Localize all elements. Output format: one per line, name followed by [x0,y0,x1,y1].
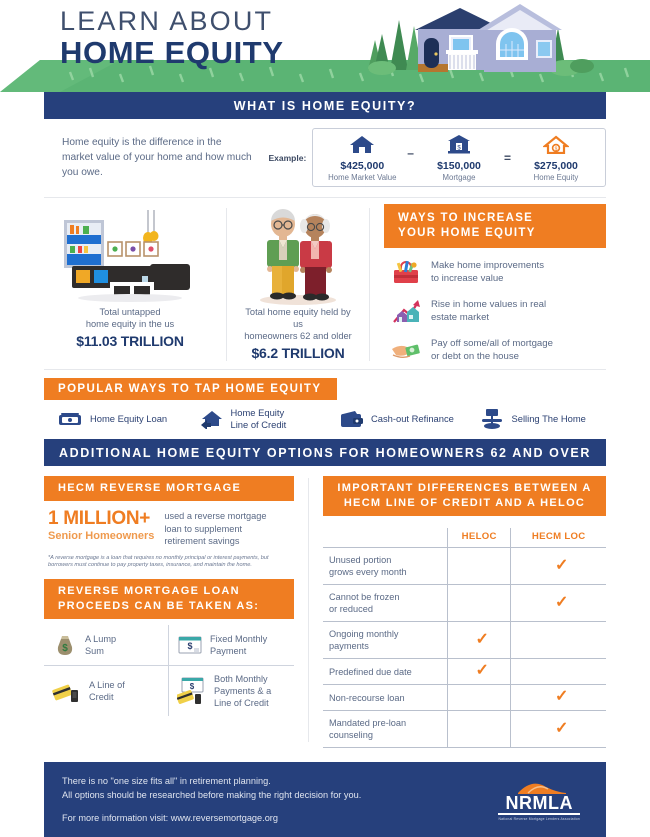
svg-text:$: $ [555,146,558,152]
toolbox-icon [390,257,422,287]
hecm-million-label: Senior Homeowners [48,529,154,543]
check-icon: ✓ [555,557,568,574]
hecm-column: HECM REVERSE MORTGAGE 1 MILLION+ Senior … [44,476,294,748]
example-value: $275,000 [517,160,595,172]
divider [369,208,370,361]
example-item-mortgage: $ $150,000 Mortgage [420,134,498,182]
svg-text:$: $ [190,682,195,691]
table-header-row: HELOC HECM LOC [323,528,606,548]
senior-man [267,209,299,300]
operator-equals: = [502,151,513,165]
bank-icon: $ [447,134,471,154]
example-box: $425,000 Home Market Value – $ $150,000 [312,128,606,187]
table-row: Ongoing monthly payments ✓ [323,622,606,659]
hecm-desc-line3: retirement savings [164,535,266,548]
cell-heloc [448,685,511,711]
row-label: Ongoing monthly payments [323,622,448,659]
title-line-1: LEARN ABOUT [60,6,284,36]
proceeds-heading: REVERSE MORTGAGE LOAN PROCEEDS CAN BE TA… [44,579,294,619]
home-equity-icon: $ [543,134,569,154]
title-line-2: HOME EQUITY [60,36,284,70]
col-header-hecm-loc: HECM LOC [511,528,606,548]
row-label: Unused portion grows every month [323,548,448,585]
footer-text: There is no "one size fits all" in retir… [62,774,498,825]
proceeds-heading-line1: REVERSE MORTGAGE LOAN [58,584,294,599]
svg-text:$: $ [187,641,192,651]
cell-heloc [448,585,511,622]
cell-heloc: ✓ [448,622,511,659]
footer-line1: There is no "one size fits all" in retir… [62,774,498,788]
col-header-blank [323,528,448,548]
house-illustration [360,0,650,92]
page-title: LEARN ABOUT HOME EQUITY [60,6,284,70]
row-label-line1: Cannot be frozen [329,591,447,603]
cell-hecm [511,622,606,659]
operator-minus: – [405,146,416,160]
example-caption: Mortgage [420,173,498,182]
row-label-line2: or reduced [329,603,447,615]
proceeds-option-text: A Lump Sum [85,633,116,657]
pop-line1: Cash-out Refinance [371,413,454,425]
hecm-desc-line1: used a reverse mortgage [164,510,266,523]
example-item-home-equity: $ $275,000 Home Equity [517,134,595,182]
money-bag-icon: $ [52,632,78,658]
opt-line1: Both Monthly [214,673,271,685]
comparison-table: HELOC HECM LOC Unused portion grows ever… [323,528,606,748]
stat-senior-equity: Total home equity held by us homeowners … [237,204,359,369]
cell-heloc [448,548,511,585]
example-block: Example: $425,000 Home Market Value – [269,128,607,187]
hecm-desc-line2: loan to supplement [164,523,266,536]
nrmla-tagline: National Reverse Mortgage Lenders Associ… [498,817,580,821]
cell-hecm: ✓ [511,585,606,622]
stat-caption-line2: homeowners 62 and older [243,330,353,342]
stat-value: $11.03 TRILLION [50,333,210,349]
stat-caption-line1: Total home equity held by us [243,306,353,330]
check-icon: ✓ [555,720,568,737]
opt-line2: Sum [85,645,116,657]
for-sale-sign-icon [480,408,504,430]
comparison-heading-line1: IMPORTANT DIFFERENCES BETWEEN A [323,481,606,496]
way-item-text: Make home improvements to increase value [431,259,544,285]
way-line2: or debt on the house [431,350,553,363]
svg-text:$: $ [62,643,68,654]
table-row: Unused portion grows every month ✓ [323,548,606,585]
cell-heloc [448,711,511,748]
opt-line2: Credit [89,691,125,703]
cell-hecm: ✓ [511,548,606,585]
row-label: Mandated pre-loan counseling [323,711,448,748]
example-value: $425,000 [323,160,401,172]
example-value: $150,000 [420,160,498,172]
row-label-line2: grows every month [329,566,447,578]
pop-line1: Selling The Home [512,413,586,425]
popular-way-cash-out-refinance: Cash-out Refinance [325,409,466,429]
table-row: Mandated pre-loan counseling ✓ [323,711,606,748]
table-row: Cannot be frozen or reduced ✓ [323,585,606,622]
popular-ways-heading: POPULAR WAYS TO TAP HOME EQUITY [44,378,337,400]
way-line2: estate market [431,311,546,324]
col-header-heloc: HELOC [448,528,511,548]
check-icon: ✓ [555,594,568,611]
comparison-heading: IMPORTANT DIFFERENCES BETWEEN A HECM LIN… [323,476,606,516]
ways-to-increase-panel: WAYS TO INCREASE YOUR HOME EQUITY M [380,204,606,369]
hecm-disclaimer: *A reverse mortgage is a loan that requi… [44,555,294,570]
footer-line2: All options should be researched before … [62,788,498,802]
row-label-line1: Predefined due date [329,666,447,678]
row-label: Cannot be frozen or reduced [323,585,448,622]
proceeds-panel: REVERSE MORTGAGE LOAN PROCEEDS CAN BE TA… [44,579,294,716]
check-icon: ✓ [476,662,489,679]
pop-line1: Home Equity [231,407,287,419]
cell-hecm: ✓ [511,711,606,748]
hecm-million-value: 1 MILLION+ [48,509,154,529]
example-label: Example: [269,153,307,163]
proceeds-option-text: Fixed Monthly Payment [210,633,267,657]
way-line1: Make home improvements [431,259,544,272]
way-item-text: Rise in home values in real estate marke… [431,298,546,324]
opt-line1: Fixed Monthly [210,633,267,645]
row-label: Non-recourse loan [323,685,448,711]
table-row: Non-recourse loan ✓ [323,685,606,711]
opt-line2: Payment [210,645,267,657]
what-is-description: Home equity is the difference in the mar… [44,135,255,180]
popular-way-text: Home Equity Line of Credit [231,407,287,431]
way-item-improvements: Make home improvements to increase value [384,257,606,287]
what-is-banner: WHAT IS HOME EQUITY? [44,92,606,119]
popular-way-selling-the-home: Selling The Home [466,408,607,430]
hecm-description: used a reverse mortgage loan to suppleme… [164,509,266,548]
cell-heloc: ✓ [448,659,511,685]
comparison-heading-line2: HECM LINE OF CREDIT AND A HELOC [323,496,606,511]
comparison-column: IMPORTANT DIFFERENCES BETWEEN A HECM LIN… [323,476,606,748]
senior-couple-illustration [243,208,353,306]
row-label: Predefined due date [323,659,448,685]
popular-ways-list: Home Equity Loan Home Equity Line of Cre… [44,400,606,439]
home-icon [349,134,375,154]
row-label-line1: Unused portion [329,554,447,566]
what-is-content: Home equity is the difference in the mar… [44,119,606,197]
stats-and-ways: Total untapped home equity in the us $11… [44,198,606,369]
divider [308,478,309,742]
row-label-line1: Mandated pre-loan [329,717,447,729]
nrmla-logo: NRMLA National Reverse Mortgage Lenders … [498,778,588,821]
stat-caption-line1: Total untapped [50,306,210,318]
popular-ways-section: POPULAR WAYS TO TAP HOME EQUITY Home Equ… [44,370,606,439]
nrmla-arc-icon [498,778,572,794]
proceeds-grid: $ A Lump Sum $ [44,625,294,716]
hand-money-icon [390,335,422,365]
proceeds-heading-line2: PROCEEDS CAN BE TAKEN AS: [58,599,294,614]
proceeds-option-fixed-monthly: $ Fixed Monthly Payment [169,625,294,666]
infographic-page: LEARN ABOUT HOME EQUITY [0,0,650,691]
example-caption: Home Equity [517,173,595,182]
wallet-icon [339,409,363,429]
row-label-line2: counseling [329,729,447,741]
stats-group: Total untapped home equity in the us $11… [44,204,359,369]
hecm-stat-figure: 1 MILLION+ Senior Homeowners [48,509,154,548]
way-item-text: Pay off some/all of mortgage or debt on … [431,337,553,363]
cell-hecm: ✓ [511,685,606,711]
footer-url[interactable]: For more information visit: www.reversem… [62,811,498,825]
row-label-line2: payments [329,640,447,652]
proceeds-option-lump-sum: $ A Lump Sum [44,625,169,666]
row-label-line1: Ongoing monthly [329,628,447,640]
footer-bar: There is no "one size fits all" in retir… [44,762,606,837]
opt-line1: A Line of [89,679,125,691]
way-line1: Pay off some/all of mortgage [431,337,553,350]
stat-caption-line2: home equity in the us [50,318,210,330]
cash-icon [58,410,82,428]
popular-way-text: Home Equity Loan [90,413,167,425]
hecm-heading: HECM REVERSE MORTGAGE [44,476,294,501]
senior-woman [300,214,332,301]
nrmla-wordmark: NRMLA [498,794,580,815]
way-line2: to increase value [431,272,544,285]
check-icon: ✓ [476,631,489,648]
divider [226,208,227,361]
stat-untapped-equity: Total untapped home equity in the us $11… [44,204,216,369]
way-item-pay-off: Pay off some/all of mortgage or debt on … [384,335,606,365]
living-room-illustration [50,208,210,306]
cell-hecm [511,659,606,685]
rising-home-value-icon [390,296,422,326]
table-row: Predefined due date ✓ [323,659,606,685]
opt-line3: Line of Credit [214,697,271,709]
row-label-line1: Non-recourse loan [329,692,447,704]
example-caption: Home Market Value [323,173,401,182]
popular-way-heloc: Home Equity Line of Credit [185,407,326,431]
popular-way-text: Cash-out Refinance [371,413,454,425]
popular-way-home-equity-loan: Home Equity Loan [44,410,185,428]
ways-heading: WAYS TO INCREASE YOUR HOME EQUITY [384,204,606,248]
options-columns: HECM REVERSE MORTGAGE 1 MILLION+ Senior … [44,466,606,748]
header-hero: LEARN ABOUT HOME EQUITY [0,0,650,92]
hecm-stat: 1 MILLION+ Senior Homeowners used a reve… [44,509,294,548]
ways-heading-line2: YOUR HOME EQUITY [398,226,606,241]
check-payment-icon: $ [177,633,203,657]
stat-value: $6.2 TRILLION [243,345,353,361]
way-item-market-rise: Rise in home values in real estate marke… [384,296,606,326]
additional-options-banner: ADDITIONAL HOME EQUITY OPTIONS FOR HOMEO… [44,439,606,466]
way-line1: Rise in home values in real [431,298,546,311]
what-is-section: WHAT IS HOME EQUITY? Home equity is the … [44,92,606,748]
pop-line2: Line of Credit [231,419,287,431]
ways-heading-line1: WAYS TO INCREASE [398,211,606,226]
example-item-market-value: $425,000 Home Market Value [323,134,401,182]
house-arrow-icon [199,409,223,429]
opt-line1: A Lump [85,633,116,645]
popular-way-text: Selling The Home [512,413,586,425]
pop-line1: Home Equity Loan [90,413,167,425]
